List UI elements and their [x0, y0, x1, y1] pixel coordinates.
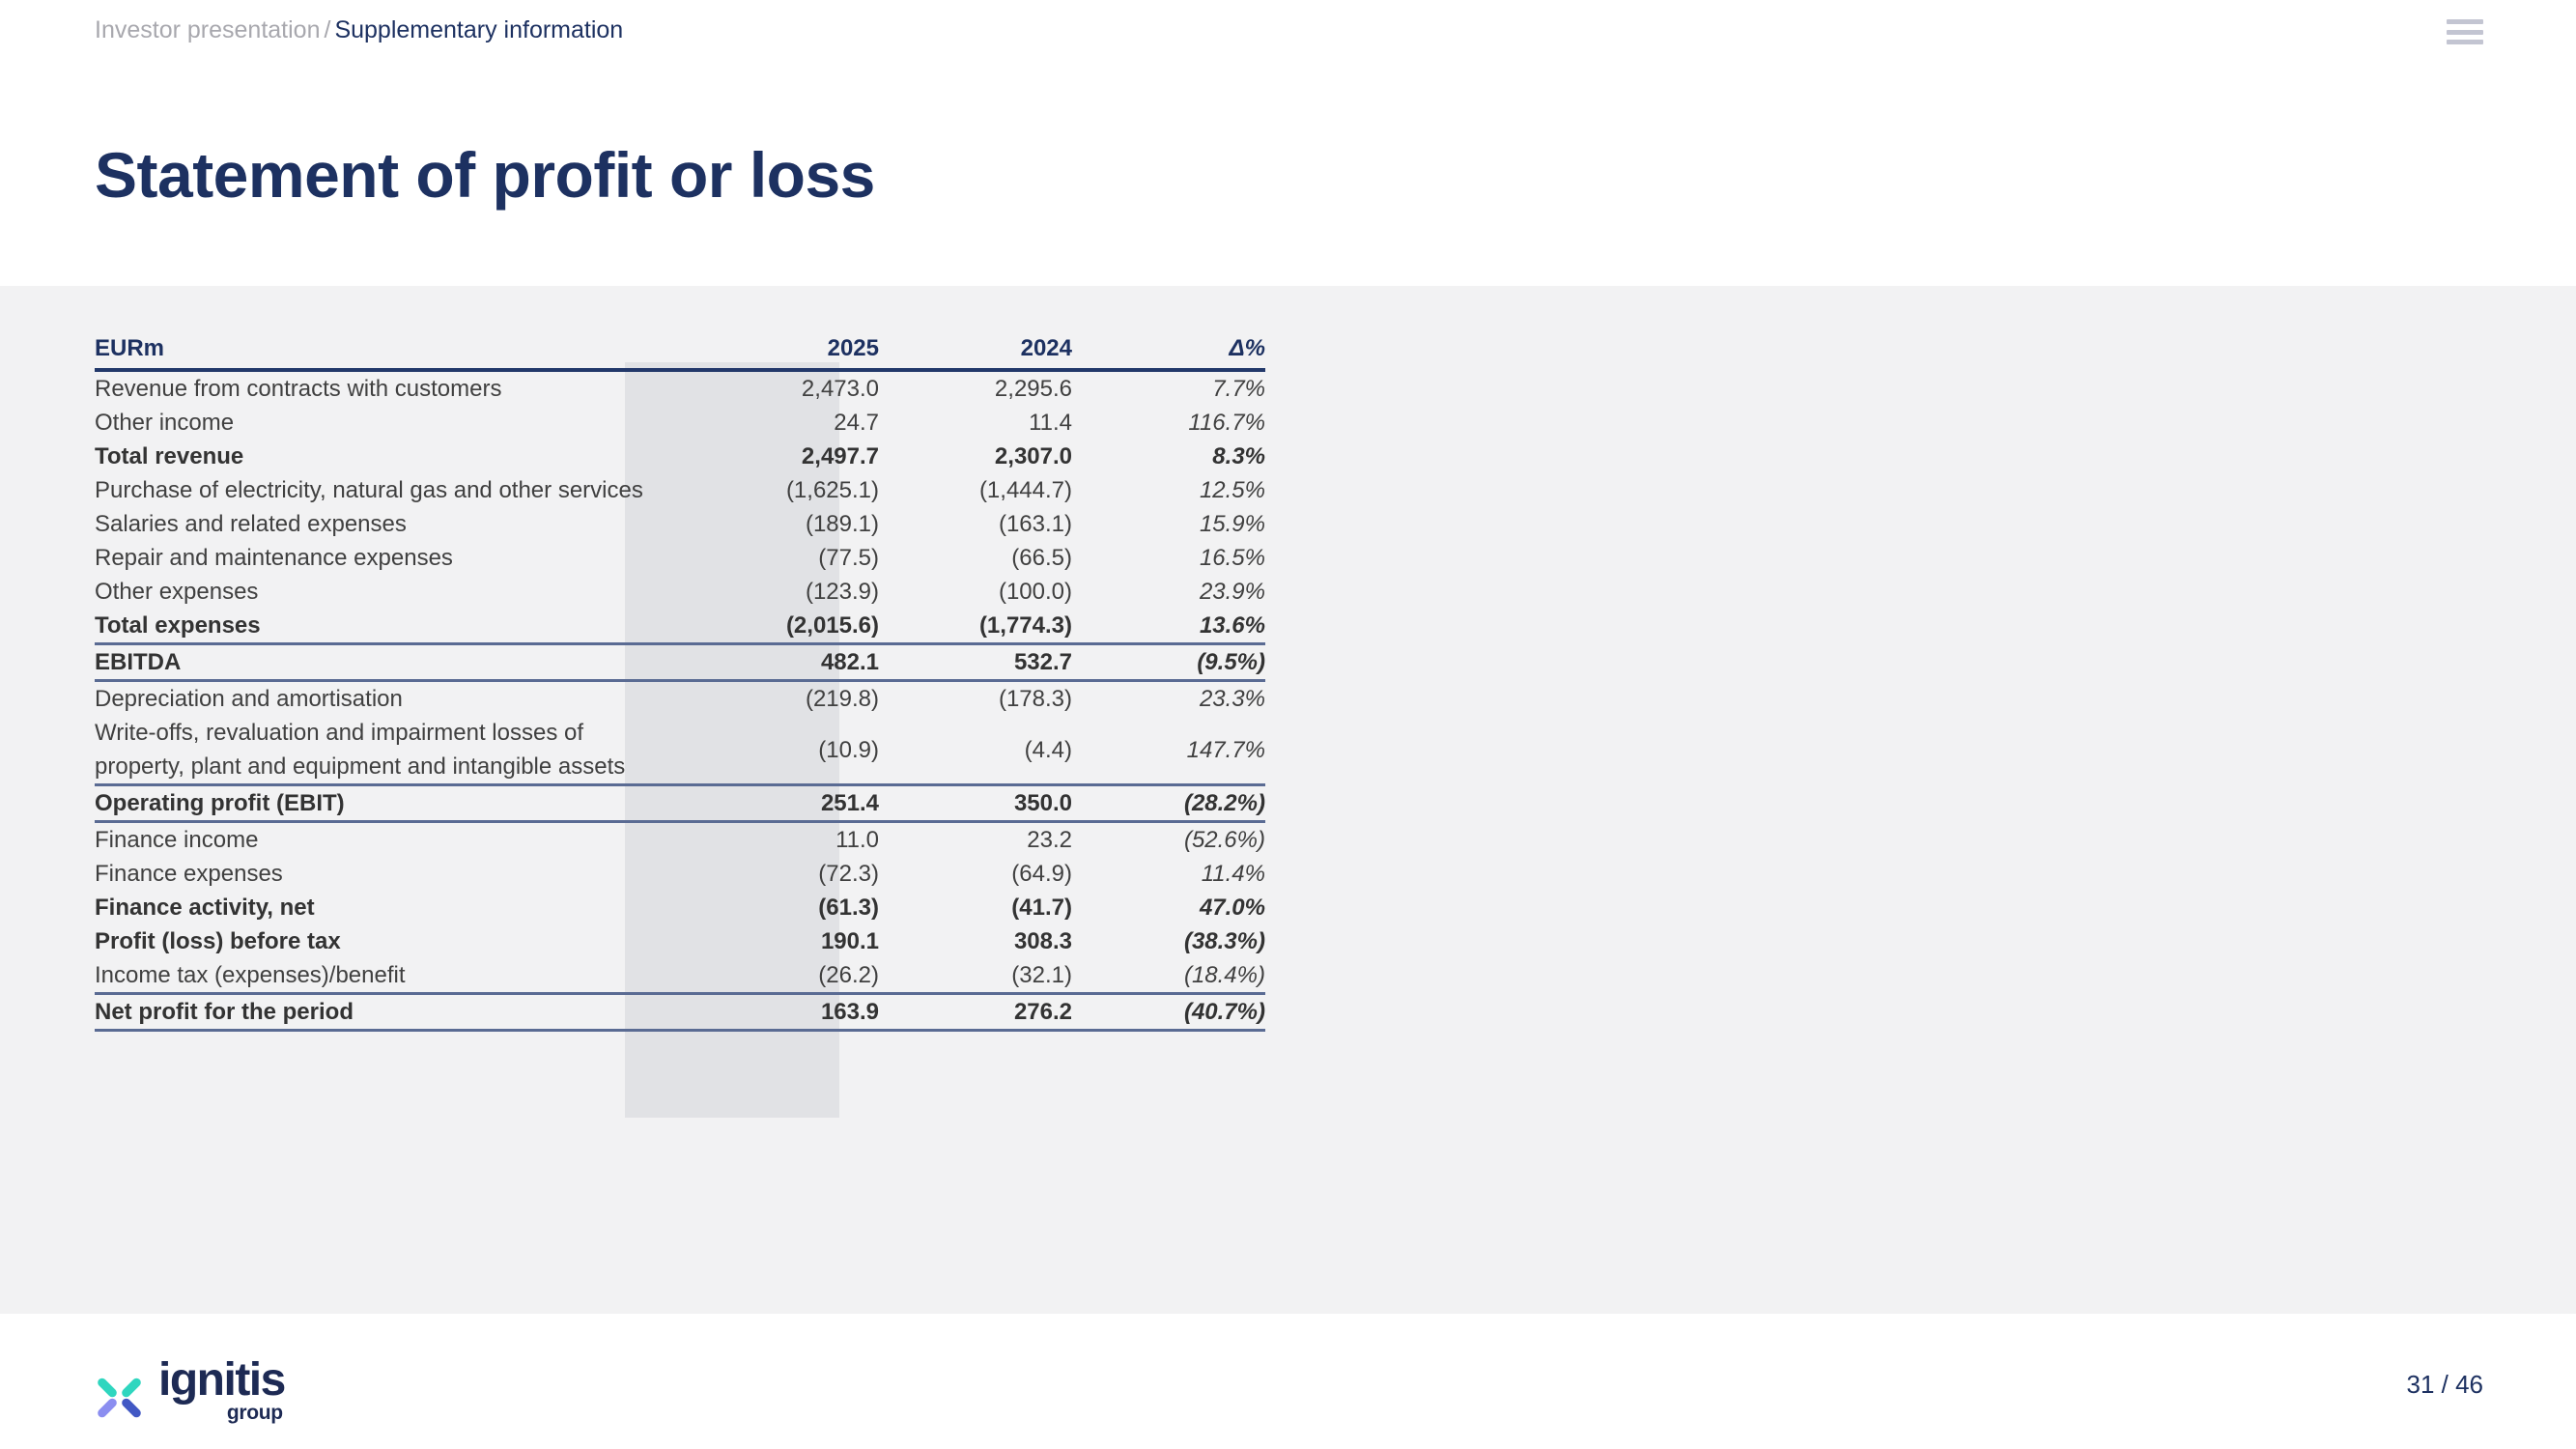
table-row: Operating profit (EBIT)251.4350.0(28.2%)	[95, 785, 1265, 822]
table-header-row: EURm 2025 2024 Δ%	[95, 331, 1265, 370]
table-row: Income tax (expenses)/benefit(26.2)(32.1…	[95, 958, 1265, 994]
cell-delta: 15.9%	[1072, 507, 1265, 541]
cell-delta: 23.9%	[1072, 575, 1265, 609]
cell-delta: (40.7%)	[1072, 994, 1265, 1031]
cell-delta: (18.4%)	[1072, 958, 1265, 994]
cell-2024: (100.0)	[879, 575, 1072, 609]
cell-delta: 7.7%	[1072, 370, 1265, 406]
cell-delta: 23.3%	[1072, 681, 1265, 717]
cell-2024: (66.5)	[879, 541, 1072, 575]
cell-delta: 47.0%	[1072, 891, 1265, 924]
cell-2024: 308.3	[879, 924, 1072, 958]
table-row: Other income24.711.4116.7%	[95, 406, 1265, 440]
table-row: Other expenses(123.9)(100.0)23.9%	[95, 575, 1265, 609]
statement-of-profit-or-loss-table: EURm 2025 2024 Δ% Revenue from contracts…	[95, 331, 1265, 1032]
row-label: Finance activity, net	[95, 891, 663, 924]
cell-2024: (4.4)	[879, 716, 1072, 785]
cell-delta: 12.5%	[1072, 473, 1265, 507]
cell-2025: (10.9)	[663, 716, 879, 785]
column-header-eurm: EURm	[95, 331, 663, 370]
breadcrumb: Investor presentation/Supplementary info…	[95, 14, 623, 45]
row-label: Finance expenses	[95, 857, 663, 891]
cell-2025: 2,473.0	[663, 370, 879, 406]
hamburger-bar-3	[2447, 40, 2483, 44]
table-row: Profit (loss) before tax190.1308.3(38.3%…	[95, 924, 1265, 958]
ignitis-x-mark-icon	[93, 1371, 147, 1425]
table-row: Total revenue2,497.72,307.08.3%	[95, 440, 1265, 473]
cell-2024: 276.2	[879, 994, 1072, 1031]
table-head: EURm 2025 2024 Δ%	[95, 331, 1265, 370]
cell-delta: 11.4%	[1072, 857, 1265, 891]
table-row: Total expenses(2,015.6)(1,774.3)13.6%	[95, 609, 1265, 644]
column-header-delta: Δ%	[1072, 331, 1265, 370]
cell-2024: (41.7)	[879, 891, 1072, 924]
table-row: Repair and maintenance expenses(77.5)(66…	[95, 541, 1265, 575]
row-label: Write-offs, revaluation and impairment l…	[95, 716, 663, 785]
logo-text: ignitis group	[158, 1356, 285, 1425]
cell-2025: 163.9	[663, 994, 879, 1031]
table-body: Revenue from contracts with customers2,4…	[95, 370, 1265, 1031]
row-label: Other expenses	[95, 575, 663, 609]
breadcrumb-current[interactable]: Supplementary information	[334, 16, 623, 43]
page-number: 31 / 46	[2406, 1370, 2483, 1399]
hamburger-bar-1	[2447, 19, 2483, 24]
cell-delta: (28.2%)	[1072, 785, 1265, 822]
cell-2025: (189.1)	[663, 507, 879, 541]
table-row: Depreciation and amortisation(219.8)(178…	[95, 681, 1265, 717]
cell-delta: 147.7%	[1072, 716, 1265, 785]
cell-2024: (64.9)	[879, 857, 1072, 891]
cell-delta: (52.6%)	[1072, 822, 1265, 858]
breadcrumb-separator: /	[320, 16, 334, 43]
table-row: Net profit for the period163.9276.2(40.7…	[95, 994, 1265, 1031]
top-bar: Investor presentation/Supplementary info…	[0, 0, 2576, 60]
table-row: Finance income11.023.2(52.6%)	[95, 822, 1265, 858]
row-label: Net profit for the period	[95, 994, 663, 1031]
cell-2025: 190.1	[663, 924, 879, 958]
cell-2025: (61.3)	[663, 891, 879, 924]
footer: ignitis group 31 / 46	[0, 1314, 2576, 1449]
mark-bar-top-left	[96, 1377, 118, 1399]
cell-delta: 116.7%	[1072, 406, 1265, 440]
cell-2025: (26.2)	[663, 958, 879, 994]
cell-delta: (9.5%)	[1072, 644, 1265, 681]
breadcrumb-parent[interactable]: Investor presentation	[95, 16, 320, 43]
cell-2025: (2,015.6)	[663, 609, 879, 644]
cell-delta: 16.5%	[1072, 541, 1265, 575]
row-label: Purchase of electricity, natural gas and…	[95, 473, 663, 507]
cell-delta: 8.3%	[1072, 440, 1265, 473]
cell-2025: (1,625.1)	[663, 473, 879, 507]
logo-subtext: group	[227, 1402, 283, 1425]
table-row: Finance activity, net(61.3)(41.7)47.0%	[95, 891, 1265, 924]
cell-delta: (38.3%)	[1072, 924, 1265, 958]
cell-2025: (77.5)	[663, 541, 879, 575]
cell-2025: 2,497.7	[663, 440, 879, 473]
row-label: Finance income	[95, 822, 663, 858]
table-row: Finance expenses(72.3)(64.9)11.4%	[95, 857, 1265, 891]
row-label: Repair and maintenance expenses	[95, 541, 663, 575]
cell-2025: (72.3)	[663, 857, 879, 891]
cell-2024: (1,774.3)	[879, 609, 1072, 644]
column-header-2024: 2024	[879, 331, 1072, 370]
slide-root: Investor presentation/Supplementary info…	[0, 0, 2576, 1449]
mark-bar-bottom-right	[120, 1397, 142, 1419]
cell-2025: (123.9)	[663, 575, 879, 609]
row-label: Total revenue	[95, 440, 663, 473]
row-label: Operating profit (EBIT)	[95, 785, 663, 822]
row-label: EBITDA	[95, 644, 663, 681]
page-title: Statement of profit or loss	[95, 137, 875, 213]
column-header-2025: 2025	[663, 331, 879, 370]
table-row: Write-offs, revaluation and impairment l…	[95, 716, 1265, 785]
row-label: Salaries and related expenses	[95, 507, 663, 541]
ignitis-logo[interactable]: ignitis group	[93, 1356, 285, 1425]
row-label: Depreciation and amortisation	[95, 681, 663, 717]
row-label: Revenue from contracts with customers	[95, 370, 663, 406]
cell-2024: (163.1)	[879, 507, 1072, 541]
hamburger-bar-2	[2447, 30, 2483, 35]
logo-wordmark: ignitis	[158, 1356, 285, 1405]
cell-2024: 2,307.0	[879, 440, 1072, 473]
cell-2025: 24.7	[663, 406, 879, 440]
cell-2024: (1,444.7)	[879, 473, 1072, 507]
cell-2025: 251.4	[663, 785, 879, 822]
mark-bar-bottom-left	[96, 1397, 118, 1419]
row-label: Total expenses	[95, 609, 663, 644]
mark-bar-top-right	[120, 1377, 142, 1399]
cell-2024: 532.7	[879, 644, 1072, 681]
table-row: Purchase of electricity, natural gas and…	[95, 473, 1265, 507]
hamburger-menu-icon[interactable]	[2447, 19, 2483, 44]
row-label: Other income	[95, 406, 663, 440]
cell-2024: (32.1)	[879, 958, 1072, 994]
cell-2025: 482.1	[663, 644, 879, 681]
table-row: Salaries and related expenses(189.1)(163…	[95, 507, 1265, 541]
cell-2024: 11.4	[879, 406, 1072, 440]
cell-2024: 23.2	[879, 822, 1072, 858]
table-row: EBITDA482.1532.7(9.5%)	[95, 644, 1265, 681]
table-row: Revenue from contracts with customers2,4…	[95, 370, 1265, 406]
cell-2024: 2,295.6	[879, 370, 1072, 406]
cell-2025: 11.0	[663, 822, 879, 858]
cell-2024: (178.3)	[879, 681, 1072, 717]
row-label: Profit (loss) before tax	[95, 924, 663, 958]
row-label: Income tax (expenses)/benefit	[95, 958, 663, 994]
financial-table-wrapper: EURm 2025 2024 Δ% Revenue from contracts…	[95, 331, 1265, 1032]
cell-2024: 350.0	[879, 785, 1072, 822]
cell-delta: 13.6%	[1072, 609, 1265, 644]
cell-2025: (219.8)	[663, 681, 879, 717]
